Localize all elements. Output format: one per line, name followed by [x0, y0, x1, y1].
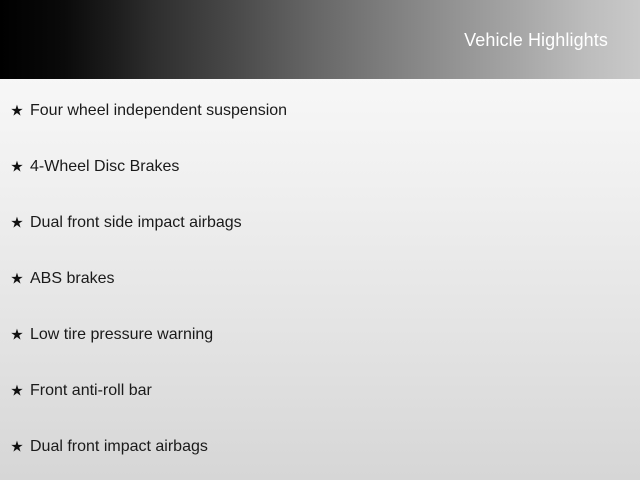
- list-item-label: Dual front impact airbags: [30, 437, 208, 457]
- star-icon: ★: [9, 160, 25, 175]
- list-item: ★ 4-Wheel Disc Brakes: [0, 139, 640, 195]
- list-item: ★ Dual front impact airbags: [0, 419, 640, 475]
- star-icon: ★: [9, 272, 25, 287]
- list-item-label: Four wheel independent suspension: [30, 101, 287, 121]
- star-icon: ★: [9, 104, 25, 119]
- header-banner: Vehicle Highlights: [0, 0, 640, 79]
- list-item-label: 4-Wheel Disc Brakes: [30, 157, 179, 177]
- star-icon: ★: [9, 384, 25, 399]
- list-item: ★ Front anti-roll bar: [0, 363, 640, 419]
- list-item: ★ Dual front side impact airbags: [0, 195, 640, 251]
- list-item-label: Dual front side impact airbags: [30, 213, 242, 233]
- star-icon: ★: [9, 216, 25, 231]
- page-title: Vehicle Highlights: [464, 29, 608, 51]
- list-item: ★ Four wheel independent suspension: [0, 83, 640, 139]
- vehicle-highlights-page: Vehicle Highlights ★ Four wheel independ…: [0, 0, 640, 480]
- list-item-label: Front anti-roll bar: [30, 381, 152, 401]
- star-icon: ★: [9, 328, 25, 343]
- list-item-label: ABS brakes: [30, 269, 114, 289]
- vehicle-highlights-list: ★ Four wheel independent suspension ★ 4-…: [0, 79, 640, 475]
- star-icon: ★: [9, 440, 25, 455]
- list-item: ★ ABS brakes: [0, 251, 640, 307]
- list-item-label: Low tire pressure warning: [30, 325, 213, 345]
- list-item: ★ Low tire pressure warning: [0, 307, 640, 363]
